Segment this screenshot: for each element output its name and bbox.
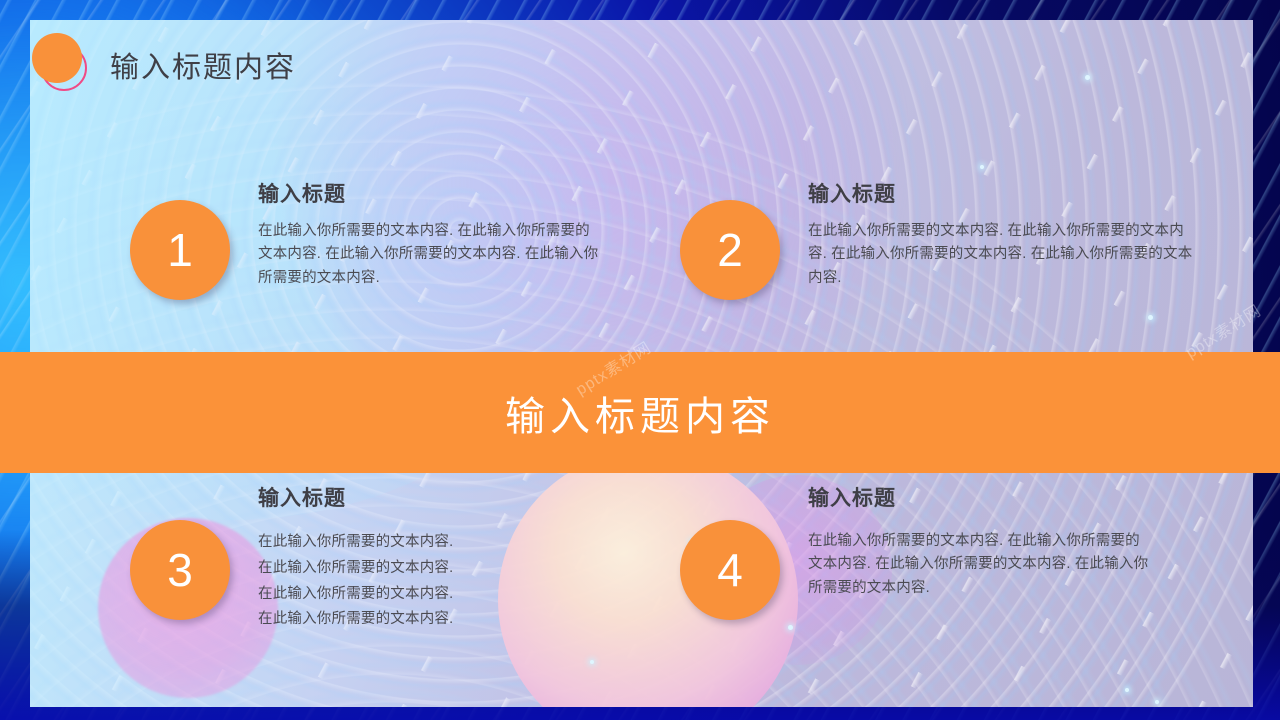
item-body-4: 在此输入你所需要的文本内容. 在此输入你所需要的文本内容. 在此输入你所需要的文… [808,530,1153,600]
list-item-3[interactable]: 3 输入标题 在此输入你所需要的文本内容. 在此输入你所需要的文本内容. 在此输… [130,520,618,633]
list-item-2[interactable]: 2 输入标题 在此输入你所需要的文本内容. 在此输入你所需要的文本内容. 在此输… [680,200,1198,300]
slide-canvas: 输入标题内容 1 输入标题 在此输入你所需要的文本内容. 在此输入你所需要的文本… [0,0,1280,720]
item-number-badge-2: 2 [680,200,780,300]
item-text-block-1: 输入标题 在此输入你所需要的文本内容. 在此输入你所需要的文本内容. 在此输入你… [258,200,603,290]
item-text-block-3: 输入标题 在此输入你所需要的文本内容. 在此输入你所需要的文本内容. 在此输入你… [258,520,618,633]
list-item-4[interactable]: 4 输入标题 在此输入你所需要的文本内容. 在此输入你所需要的文本内容. 在此输… [680,520,1153,620]
item-text-block-2: 输入标题 在此输入你所需要的文本内容. 在此输入你所需要的文本内容. 在此输入你… [808,200,1198,290]
item-title-2: 输入标题 [808,178,1198,208]
item-text-block-4: 输入标题 在此输入你所需要的文本内容. 在此输入你所需要的文本内容. 在此输入你… [808,520,1153,600]
page-title: 输入标题内容 [110,44,296,86]
item-number-badge-4: 4 [680,520,780,620]
item-body-2: 在此输入你所需要的文本内容. 在此输入你所需要的文本内容. 在此输入你所需要的文… [808,220,1198,290]
item-number-badge-1: 1 [130,200,230,300]
item-number-badge-3: 3 [130,520,230,620]
orange-circle-icon [32,33,82,83]
item-title-3: 输入标题 [258,482,618,512]
item-body-3: 在此输入你所需要的文本内容. 在此输入你所需要的文本内容. 在此输入你所需要的文… [258,530,618,633]
item-body-1: 在此输入你所需要的文本内容. 在此输入你所需要的文本内容. 在此输入你所需要的文… [258,220,603,290]
slide-header: 输入标题内容 [0,0,1280,92]
center-banner[interactable]: 输入标题内容 [0,352,1280,473]
item-title-1: 输入标题 [258,178,603,208]
item-title-4: 输入标题 [808,482,1153,512]
center-banner-title: 输入标题内容 [505,384,775,442]
list-item-1[interactable]: 1 输入标题 在此输入你所需要的文本内容. 在此输入你所需要的文本内容. 在此输… [130,200,603,300]
